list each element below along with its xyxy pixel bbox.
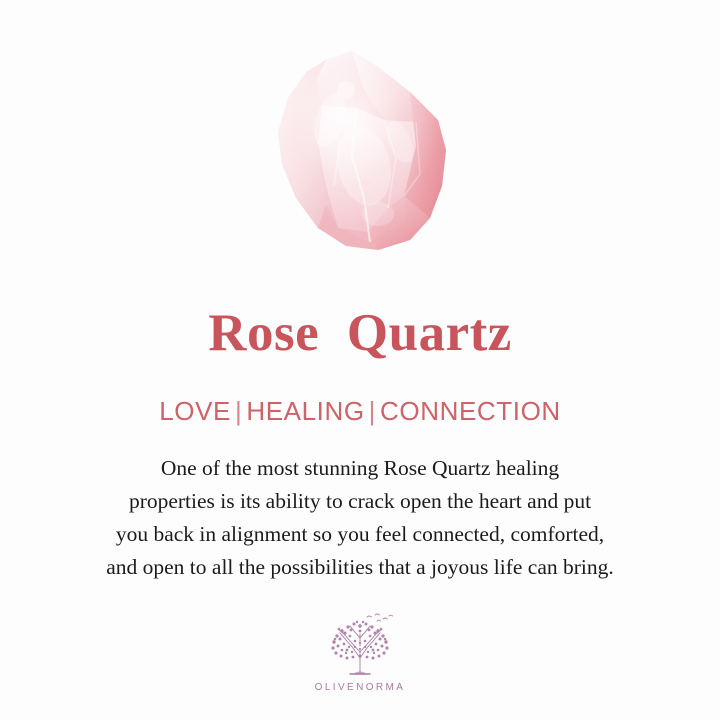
crystal-image-container [0,46,720,261]
description-paragraph: One of the most stunning Rose Quartz hea… [28,452,692,584]
description-line: you back in alignment so you feel connec… [28,518,692,551]
keyword-separator-1: | [231,396,246,426]
keyword-separator-2: | [365,396,380,426]
page-title: Rose Quartz [0,304,720,362]
keyword-tagline: LOVE|HEALING|CONNECTION [0,396,720,426]
description-line: One of the most stunning Rose Quartz hea… [28,452,692,485]
brand-wordmark: OLIVENORMA [315,682,406,693]
keyword-healing: HEALING [246,396,364,426]
rose-quartz-crystal-icon [260,46,460,261]
rose-quartz-info-card: Rose Quartz LOVE|HEALING|CONNECTION One … [0,0,720,720]
description-line: and open to all the possibilities that a… [28,551,692,584]
tree-of-life-icon [317,612,403,680]
keyword-connection: CONNECTION [380,396,561,426]
brand-logo: OLIVENORMA [0,612,720,693]
description-line: properties is its ability to crack open … [28,485,692,518]
keyword-love: LOVE [159,396,231,426]
